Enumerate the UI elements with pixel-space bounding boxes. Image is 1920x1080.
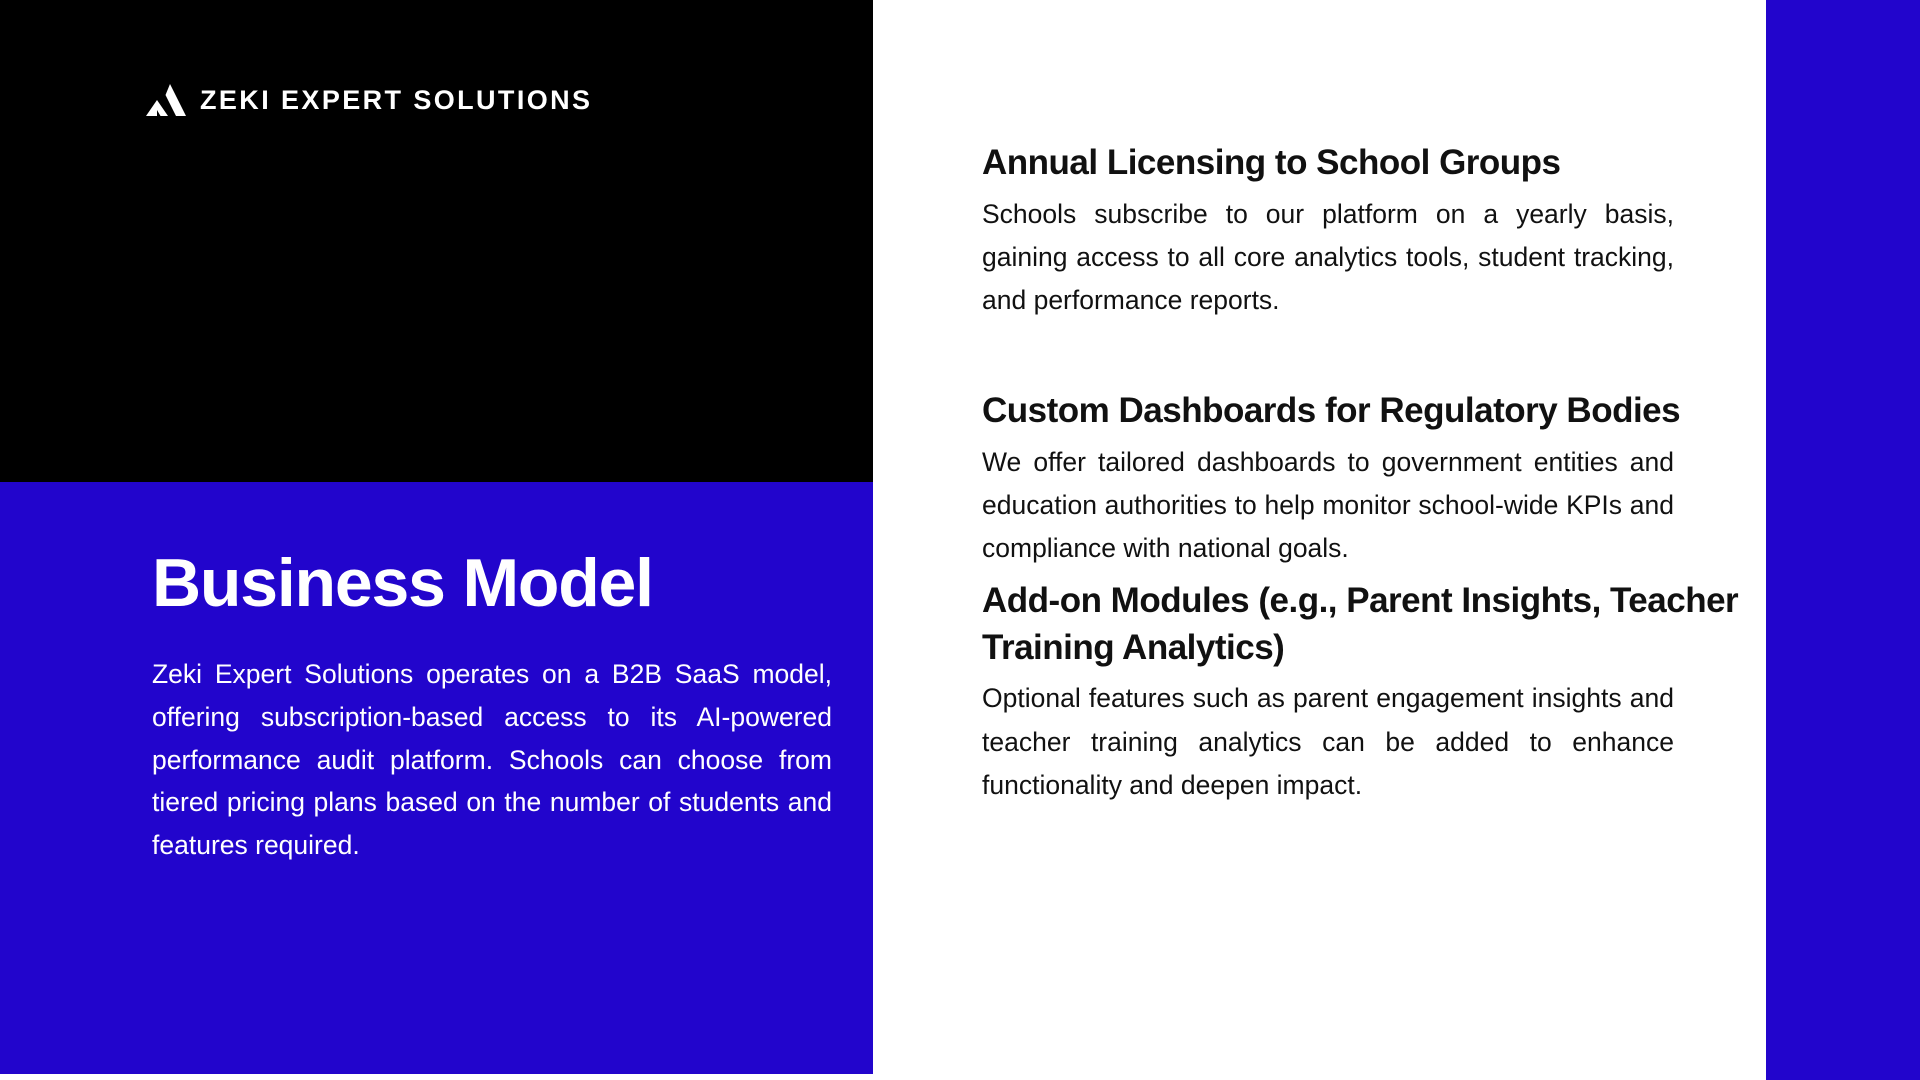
right-content-stack: Annual Licensing to School Groups School… [982, 140, 1772, 807]
section-body: Schools subscribe to our platform on a y… [982, 193, 1674, 323]
section-gap [982, 322, 1772, 388]
panel-seam [873, 0, 888, 1080]
left-black-panel [0, 0, 873, 482]
section-heading: Annual Licensing to School Groups [982, 140, 1772, 187]
section-body: Optional features such as parent engagem… [982, 677, 1674, 807]
section-heading: Custom Dashboards for Regulatory Bodies [982, 388, 1772, 435]
section-heading: Add-on Modules (e.g., Parent Insights, T… [982, 578, 1772, 671]
brand-logo[interactable]: ZEKI EXPERT SOLUTIONS [146, 84, 592, 116]
left-column: ZEKI EXPERT SOLUTIONS Business Model Zek… [0, 0, 873, 1080]
section-annual-licensing: Annual Licensing to School Groups School… [982, 140, 1772, 322]
slide-canvas: ZEKI EXPERT SOLUTIONS Business Model Zek… [0, 0, 1920, 1080]
section-body: We offer tailored dashboards to governme… [982, 441, 1674, 571]
right-blue-strip [1766, 0, 1920, 1080]
brand-name: ZEKI EXPERT SOLUTIONS [200, 87, 592, 114]
page-title: Business Model [152, 548, 832, 619]
double-chevron-up-icon [146, 84, 186, 116]
section-addon-modules: Add-on Modules (e.g., Parent Insights, T… [982, 578, 1772, 807]
left-intro-paragraph: Zeki Expert Solutions operates on a B2B … [152, 653, 832, 868]
section-gap [982, 570, 1772, 578]
right-white-panel: Annual Licensing to School Groups School… [888, 0, 1766, 1080]
left-text-block: Business Model Zeki Expert Solutions ope… [152, 548, 832, 867]
section-custom-dashboards: Custom Dashboards for Regulatory Bodies … [982, 388, 1772, 570]
